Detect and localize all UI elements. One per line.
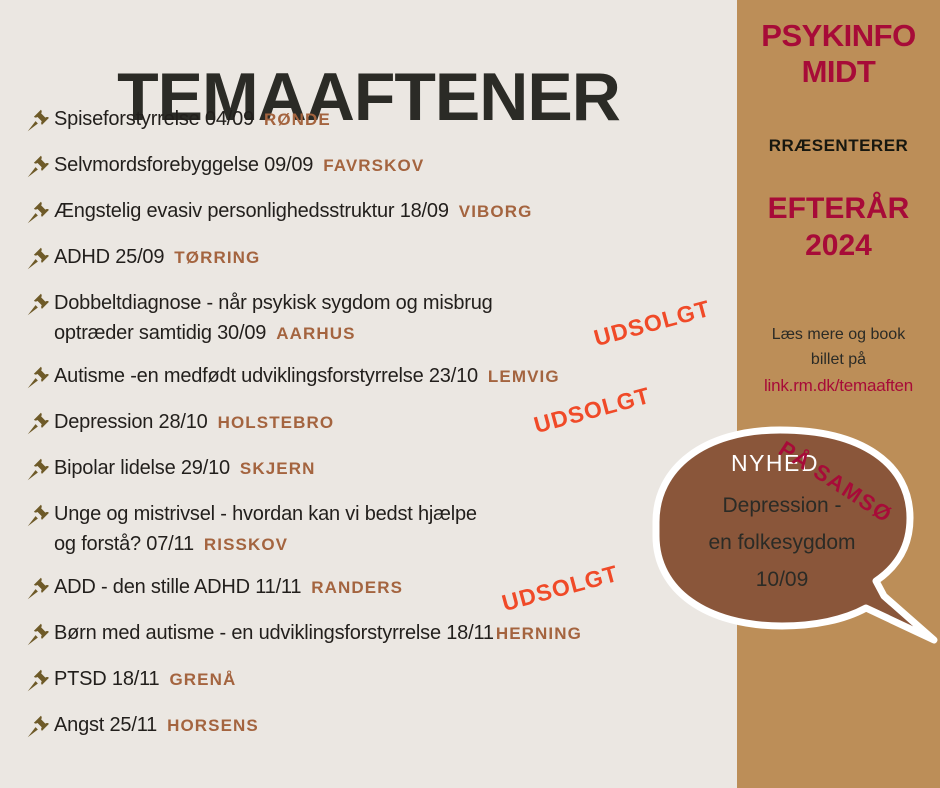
event-line-1: Børn med autisme - en udviklingsforstyrr… bbox=[54, 622, 494, 644]
event-city: HOLSTEBRO bbox=[218, 413, 335, 432]
event-city: LEMVIG bbox=[488, 367, 560, 386]
booking-info: Læs mere og book billet på link.rm.dk/te… bbox=[743, 322, 934, 398]
event-city: RØNDE bbox=[264, 110, 331, 129]
event-city: VIBORG bbox=[459, 202, 533, 221]
pushpin-icon bbox=[24, 410, 54, 438]
pushpin-icon bbox=[24, 713, 54, 741]
sidebar-panel: PSYKINFO MIDT RRÆSENTERER EFTERÅR 2024 L… bbox=[737, 0, 940, 788]
event-line-2-wrap: optræder samtidig 30/09AARHUS bbox=[54, 318, 493, 349]
booking-line-2: billet på bbox=[743, 347, 934, 372]
poster-canvas: PSYKINFO MIDT RRÆSENTERER EFTERÅR 2024 L… bbox=[0, 0, 940, 788]
event-city: TØRRING bbox=[174, 248, 260, 267]
event-line-2: optræder samtidig 30/09 bbox=[54, 322, 266, 344]
brand-line-1: PSYKINFO bbox=[737, 18, 940, 54]
event-city: GRENÅ bbox=[169, 670, 236, 689]
event-line-1: Unge og mistrivsel - hvordan kan vi beds… bbox=[54, 503, 477, 525]
pushpin-icon bbox=[24, 107, 54, 135]
event-text: Børn med autisme - en udviklingsforstyrr… bbox=[54, 618, 582, 649]
pushpin-icon bbox=[24, 245, 54, 273]
event-line-1: Spiseforstyrrelse 04/09 bbox=[54, 108, 254, 130]
event-line-1: Selvmordsforebyggelse 09/09 bbox=[54, 154, 313, 176]
pushpin-icon bbox=[24, 621, 54, 649]
event-text: Depression 28/10HOLSTEBRO bbox=[54, 407, 334, 438]
event-line-1: Angst 25/11 bbox=[54, 714, 157, 736]
list-item[interactable]: PTSD 18/11GRENÅ bbox=[24, 664, 740, 698]
event-city: RISSKOV bbox=[204, 535, 288, 554]
season-line-1: EFTERÅR bbox=[737, 190, 940, 227]
event-city: HORSENS bbox=[167, 716, 259, 735]
pushpin-icon bbox=[24, 502, 54, 530]
event-text: Dobbeltdiagnose - når psykisk sygdom og … bbox=[54, 288, 493, 349]
event-text: Autisme -en medfødt udviklingsforstyrrel… bbox=[54, 361, 560, 392]
booking-url-link[interactable]: link.rm.dk/temaaften bbox=[743, 373, 934, 398]
event-line-1: Autisme -en medfødt udviklingsforstyrrel… bbox=[54, 365, 478, 387]
season-line-2: 2024 bbox=[737, 227, 940, 264]
event-text: Selvmordsforebyggelse 09/09FAVRSKOV bbox=[54, 150, 424, 181]
event-line-1: ADD - den stille ADHD 11/11 bbox=[54, 576, 301, 598]
event-line-2-wrap: og forstå? 07/11RISSKOV bbox=[54, 529, 477, 560]
event-text: Unge og mistrivsel - hvordan kan vi beds… bbox=[54, 499, 477, 560]
event-city: FAVRSKOV bbox=[323, 156, 424, 175]
event-line-1: Dobbeltdiagnose - når psykisk sygdom og … bbox=[54, 292, 493, 314]
event-text: Spiseforstyrrelse 04/09RØNDE bbox=[54, 104, 331, 135]
list-item[interactable]: Ængstelig evasiv personlighedsstruktur 1… bbox=[24, 196, 740, 230]
event-text: Angst 25/11HORSENS bbox=[54, 710, 259, 741]
brand-line-2: MIDT bbox=[737, 54, 940, 90]
event-line-2: og forstå? 07/11 bbox=[54, 533, 194, 555]
presents-label: RRÆSENTERER bbox=[737, 136, 940, 156]
event-line-1: Bipolar lidelse 29/10 bbox=[54, 457, 230, 479]
event-text: Bipolar lidelse 29/10SKJERN bbox=[54, 453, 316, 484]
list-item[interactable]: Angst 25/11HORSENS bbox=[24, 710, 740, 744]
event-text: ADHD 25/09TØRRING bbox=[54, 242, 260, 273]
pushpin-icon bbox=[24, 153, 54, 181]
list-item[interactable]: ADD - den stille ADHD 11/11RANDERS bbox=[24, 572, 740, 606]
event-city: RANDERS bbox=[311, 578, 403, 597]
pushpin-icon bbox=[24, 575, 54, 603]
event-text: Ængstelig evasiv personlighedsstruktur 1… bbox=[54, 196, 532, 227]
pushpin-icon bbox=[24, 667, 54, 695]
event-line-1: Ængstelig evasiv personlighedsstruktur 1… bbox=[54, 200, 449, 222]
season-title: EFTERÅR 2024 bbox=[737, 190, 940, 264]
pushpin-icon bbox=[24, 199, 54, 227]
pushpin-icon bbox=[24, 291, 54, 319]
event-city: AARHUS bbox=[276, 324, 355, 343]
event-line-1: Depression 28/10 bbox=[54, 411, 208, 433]
booking-line-1: Læs mere og book bbox=[743, 322, 934, 347]
list-item[interactable]: Børn med autisme - en udviklingsforstyrr… bbox=[24, 618, 740, 652]
list-item[interactable]: Spiseforstyrrelse 04/09RØNDE bbox=[24, 104, 740, 138]
list-item[interactable]: Bipolar lidelse 29/10SKJERN bbox=[24, 453, 740, 487]
event-text: PTSD 18/11GRENÅ bbox=[54, 664, 236, 695]
event-line-1: PTSD 18/11 bbox=[54, 668, 159, 690]
event-city: HERNING bbox=[496, 624, 582, 643]
list-item[interactable]: Unge og mistrivsel - hvordan kan vi beds… bbox=[24, 499, 740, 560]
brand-title: PSYKINFO MIDT bbox=[737, 18, 940, 90]
event-city: SKJERN bbox=[240, 459, 316, 478]
list-item[interactable]: Selvmordsforebyggelse 09/09FAVRSKOV bbox=[24, 150, 740, 184]
event-line-1: ADHD 25/09 bbox=[54, 246, 164, 268]
event-list: Spiseforstyrrelse 04/09RØNDE Selvmordsfo… bbox=[24, 104, 740, 756]
event-text: ADD - den stille ADHD 11/11RANDERS bbox=[54, 572, 403, 603]
list-item[interactable]: ADHD 25/09TØRRING bbox=[24, 242, 740, 276]
pushpin-icon bbox=[24, 456, 54, 484]
pushpin-icon bbox=[24, 364, 54, 392]
